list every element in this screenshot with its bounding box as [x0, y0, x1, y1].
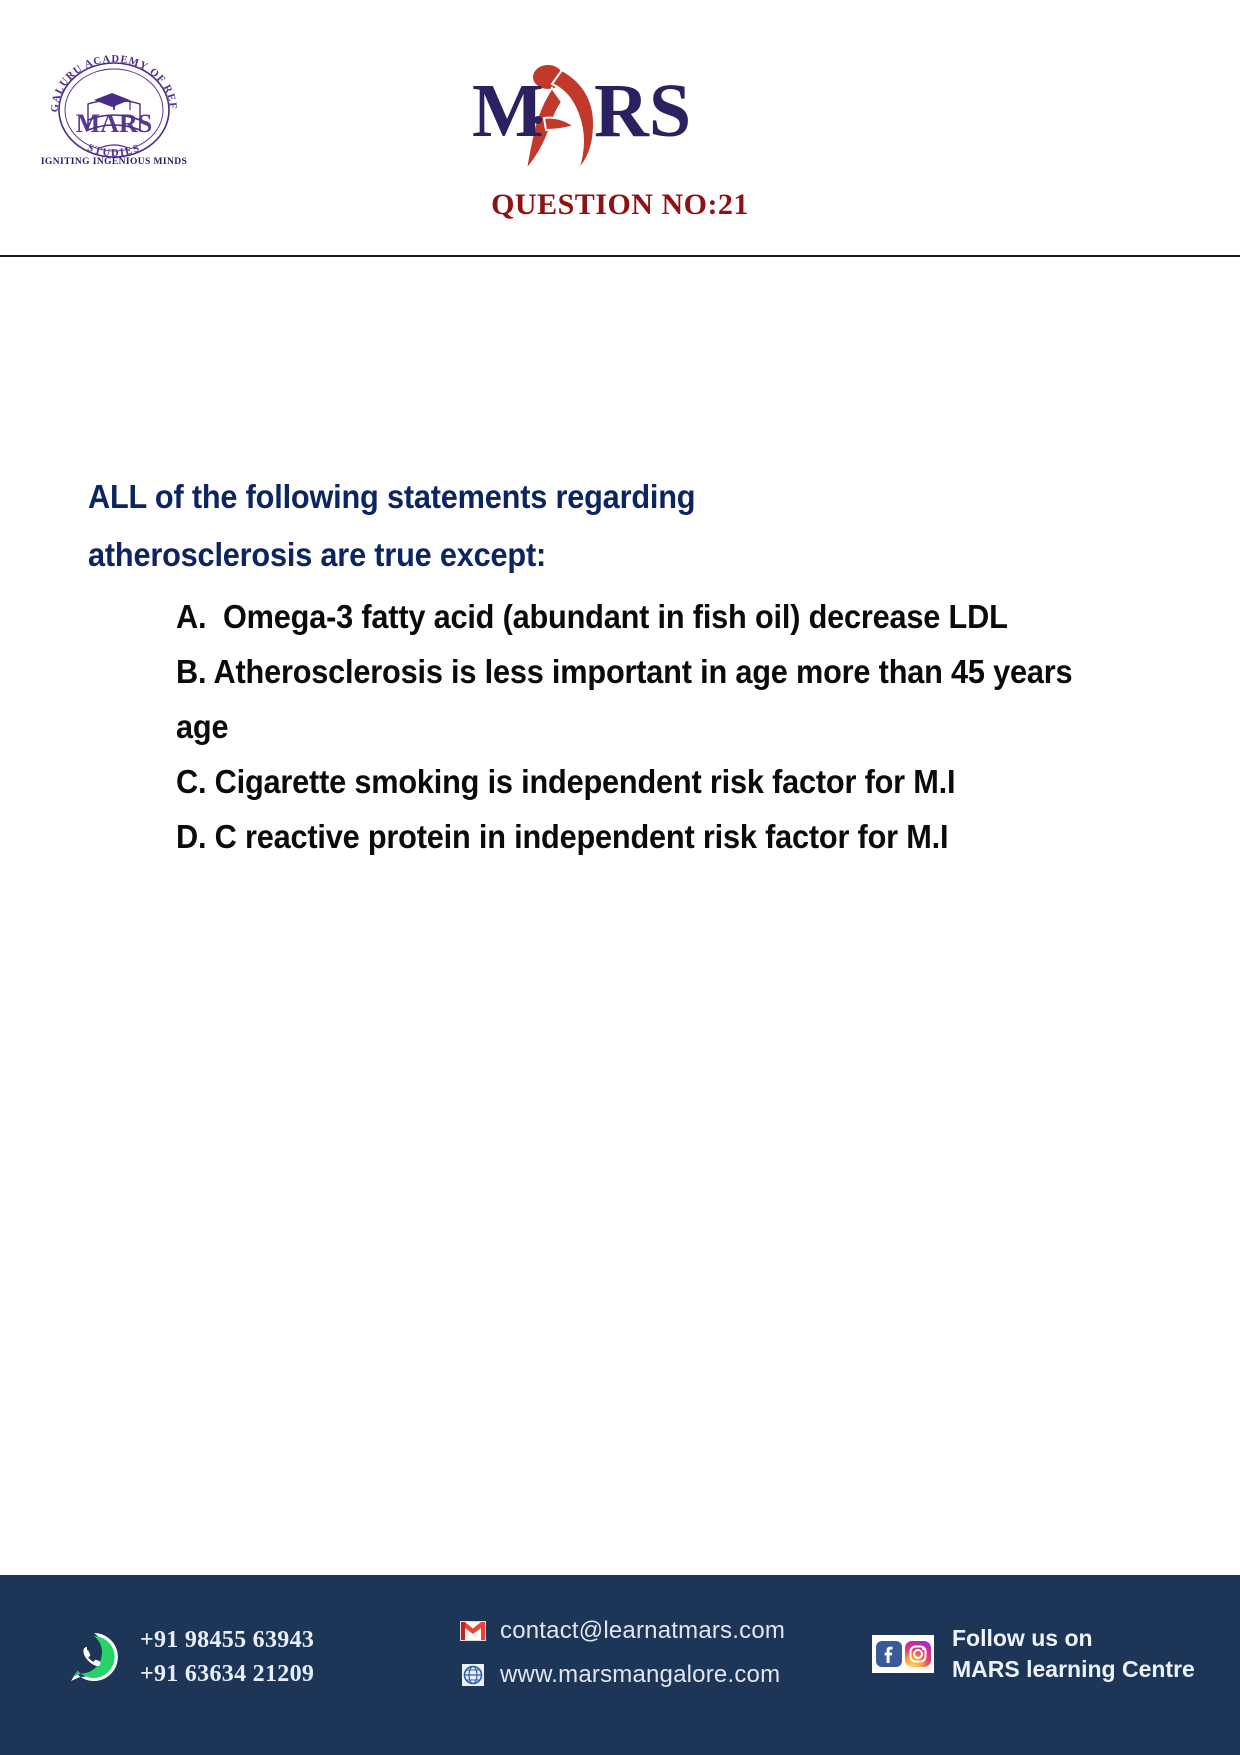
svg-text:RS: RS [594, 69, 691, 153]
footer-social-text: Follow us on MARS learning Centre [952, 1623, 1195, 1685]
footer-phone-2: +91 63634 21209 [140, 1661, 314, 1687]
social-icons-badge[interactable] [872, 1635, 934, 1673]
footer-social-block: Follow us on MARS learning Centre [872, 1623, 1195, 1685]
footer-contact-block: contact@learnatmars.com [460, 1617, 785, 1689]
footer-website-text: www.marsmangalore.com [500, 1661, 780, 1689]
option-d[interactable]: D. C reactive protein in independent ris… [176, 809, 1078, 864]
whatsapp-icon [68, 1631, 120, 1683]
option-a[interactable]: A. Omega-3 fatty acid (abundant in fish … [176, 589, 1078, 644]
mars-brand-logo-icon: M RS [466, 58, 706, 173]
mars-academy-seal-icon: MANGALURU ACADEMY OF REFINED STUDIES MAR… [38, 48, 208, 166]
footer-whatsapp-block: +91 98455 63943 +91 63634 21209 [68, 1623, 314, 1691]
question-content: ALL of the following statements regardin… [0, 257, 1240, 1575]
instagram-icon [905, 1641, 931, 1667]
footer-email-row[interactable]: contact@learnatmars.com [460, 1617, 785, 1645]
option-c[interactable]: C. Cigarette smoking is independent risk… [176, 754, 1078, 809]
footer-website-row[interactable]: www.marsmangalore.com [460, 1661, 785, 1689]
page-footer: +91 98455 63943 +91 63634 21209 [0, 1575, 1240, 1755]
question-number-label: QUESTION NO:21 [0, 188, 1240, 222]
option-b[interactable]: B. Atherosclerosis is less important in … [176, 644, 1078, 754]
footer-phone-1: +91 98455 63943 [140, 1627, 314, 1653]
gmail-icon [460, 1620, 486, 1642]
question-stem: ALL of the following statements regardin… [88, 468, 906, 584]
footer-social-line-2: MARS learning Centre [952, 1656, 1195, 1682]
svg-text:MARS: MARS [76, 109, 153, 138]
facebook-icon [876, 1641, 902, 1667]
page-header: MANGALURU ACADEMY OF REFINED STUDIES MAR… [0, 0, 1240, 257]
svg-text:IGNITING INGENIOUS MINDS: IGNITING INGENIOUS MINDS [41, 157, 187, 166]
question-page: MANGALURU ACADEMY OF REFINED STUDIES MAR… [0, 0, 1240, 1755]
globe-icon [460, 1664, 486, 1686]
options-list: A. Omega-3 fatty acid (abundant in fish … [176, 589, 1146, 864]
svg-text:M: M [472, 69, 544, 153]
footer-email-text: contact@learnatmars.com [500, 1617, 785, 1645]
footer-social-line-1: Follow us on [952, 1625, 1093, 1651]
footer-phone-numbers: +91 98455 63943 +91 63634 21209 [140, 1623, 314, 1691]
